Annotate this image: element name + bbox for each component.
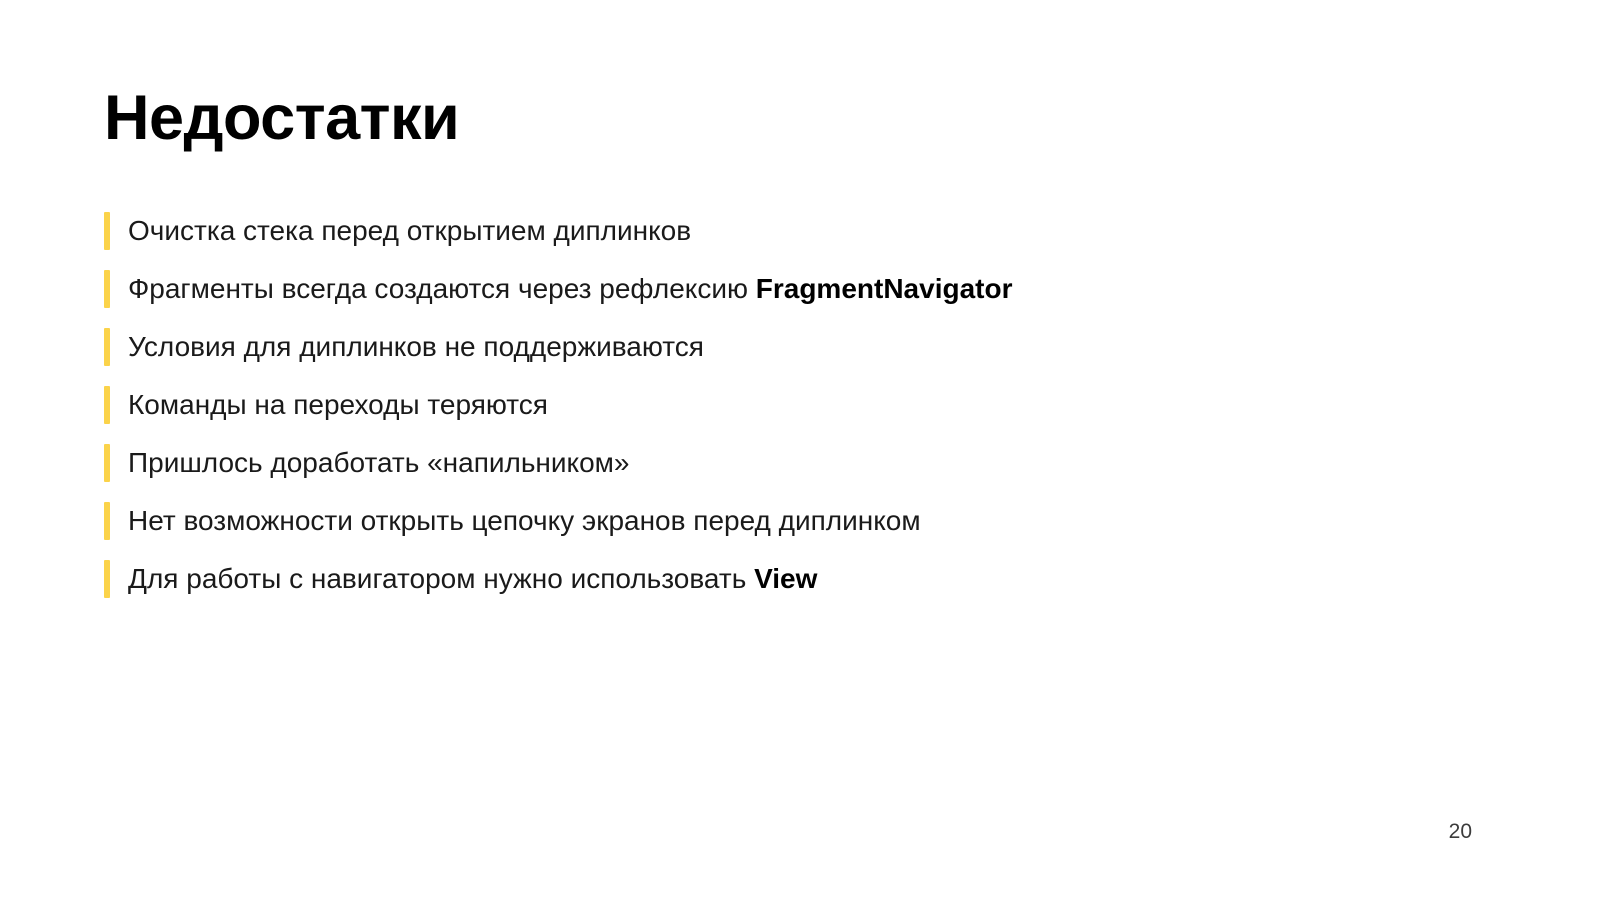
list-item-text: Фрагменты всегда создаются через рефлекс… — [128, 273, 756, 304]
list-item-label: Условия для диплинков не поддерживаются — [128, 328, 704, 366]
list-item-label: Очистка стека перед открытием диплинков — [128, 212, 691, 250]
list-item: Условия для диплинков не поддерживаются — [104, 328, 1404, 366]
list-item: Фрагменты всегда создаются через рефлекс… — [104, 270, 1404, 308]
list-item-text: Команды на переходы теряются — [128, 389, 548, 420]
list-item-text: Нет возможности открыть цепочку экранов … — [128, 505, 921, 536]
list-item-label: Команды на переходы теряются — [128, 386, 548, 424]
list-item-text: Для работы с навигатором нужно использов… — [128, 563, 754, 594]
list-item: Для работы с навигатором нужно использов… — [104, 560, 1404, 598]
list-item-emphasis: FragmentNavigator — [756, 273, 1013, 304]
page-number: 20 — [1449, 821, 1472, 842]
list-item-text: Пришлось доработать «напильником» — [128, 447, 630, 478]
bullet-marker-icon — [104, 212, 110, 250]
bullet-marker-icon — [104, 444, 110, 482]
bullet-marker-icon — [104, 560, 110, 598]
slide: Недостатки Очистка стека перед открытием… — [0, 0, 1600, 900]
list-item-text: Условия для диплинков не поддерживаются — [128, 331, 704, 362]
list-item-label: Фрагменты всегда создаются через рефлекс… — [128, 270, 1012, 308]
list-item-label: Для работы с навигатором нужно использов… — [128, 560, 817, 598]
list-item: Нет возможности открыть цепочку экранов … — [104, 502, 1404, 540]
bullet-list: Очистка стека перед открытием диплинков … — [104, 212, 1404, 618]
page-title: Недостатки — [104, 84, 459, 153]
list-item: Команды на переходы теряются — [104, 386, 1404, 424]
bullet-marker-icon — [104, 328, 110, 366]
bullet-marker-icon — [104, 502, 110, 540]
list-item: Пришлось доработать «напильником» — [104, 444, 1404, 482]
list-item-emphasis: View — [754, 563, 817, 594]
bullet-marker-icon — [104, 386, 110, 424]
bullet-marker-icon — [104, 270, 110, 308]
list-item-text: Очистка стека перед открытием диплинков — [128, 215, 691, 246]
list-item: Очистка стека перед открытием диплинков — [104, 212, 1404, 250]
list-item-label: Пришлось доработать «напильником» — [128, 444, 630, 482]
list-item-label: Нет возможности открыть цепочку экранов … — [128, 502, 921, 540]
